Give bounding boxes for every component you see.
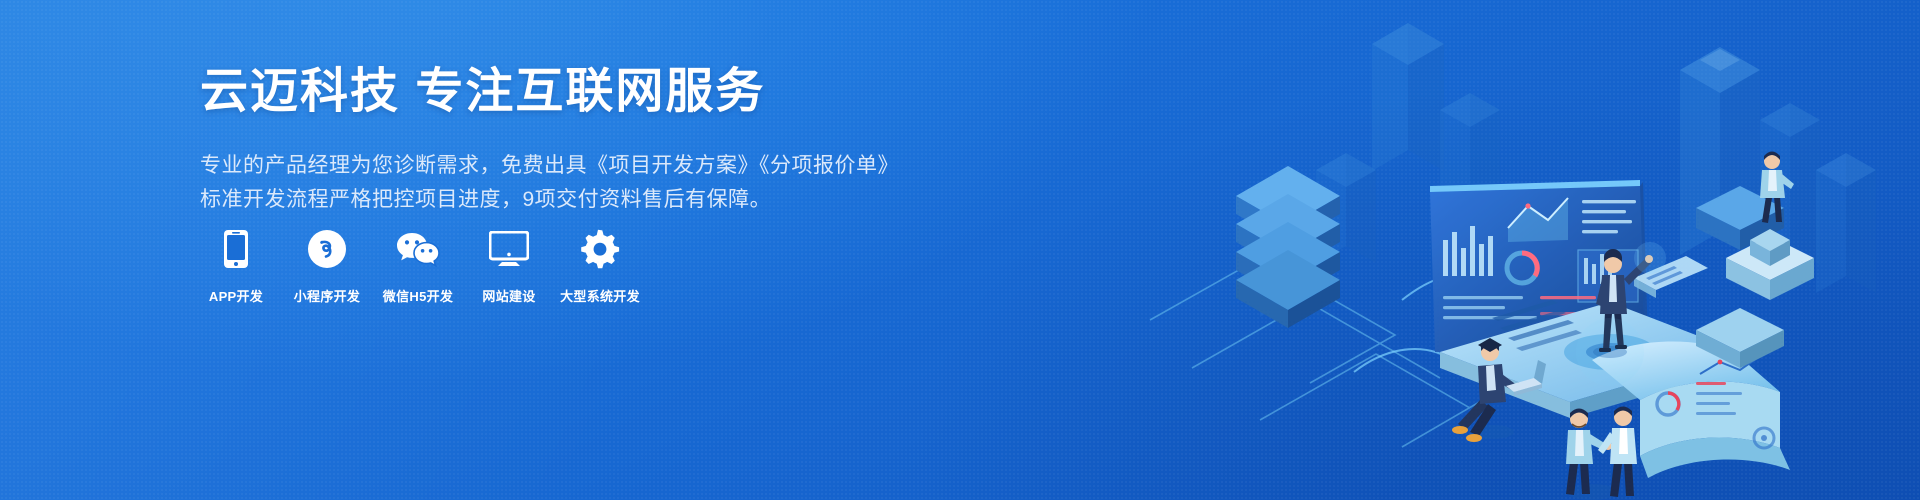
pad-text-lines: [1492, 300, 1582, 351]
service-item-mini-program[interactable]: 小程序开发: [291, 228, 363, 305]
data-flow-lines: [1150, 258, 1500, 447]
dashboard-screen: [1430, 180, 1648, 379]
service-label: APP开发: [209, 286, 263, 305]
service-list: APP开发 小程序开发: [200, 228, 636, 305]
subtitle-line-1: 专业的产品经理为您诊断需求，免费出具《项目开发方案》《分项报价单》: [200, 149, 900, 183]
service-label: 微信H5开发: [383, 286, 453, 305]
service-item-large-system[interactable]: 大型系统开发: [564, 228, 636, 305]
hero-copy: 云迈科技 专注互联网服务 专业的产品经理为您诊断需求，免费出具《项目开发方案》《…: [200, 64, 900, 217]
service-item-wechat-h5[interactable]: 微信H5开发: [382, 228, 454, 305]
service-item-website[interactable]: 网站建设: [473, 228, 545, 305]
subtitle-line-2: 标准开发流程严格把控项目进度，9项交付资料售后有保障。: [200, 183, 900, 217]
right-pedestals: [1696, 186, 1814, 368]
floating-mini-panel: [1634, 256, 1708, 298]
server-stack: [1236, 166, 1340, 328]
gear-icon: [580, 228, 620, 270]
bar-chart-panel: [1443, 226, 1493, 276]
mini-program-icon: [307, 228, 347, 270]
pedestal-person: [1760, 152, 1794, 224]
service-label: 网站建设: [482, 286, 535, 305]
hero-subtitle: 专业的产品经理为您诊断需求，免费出具《项目开发方案》《分项报价单》 标准开发流程…: [200, 149, 900, 217]
mobile-phone-icon: [223, 228, 249, 270]
city-buildings: [1260, 23, 1876, 317]
hero-banner: 云迈科技 专注互联网服务 专业的产品经理为您诊断需求，免费出具《项目开发方案》《…: [0, 0, 1920, 500]
isometric-illustration: [1140, 0, 1920, 500]
tablet-device: [1440, 300, 1740, 418]
line-chart-panel: [1508, 198, 1568, 242]
donut-chart: [1507, 253, 1537, 283]
two-people-group: [1566, 407, 1637, 500]
sitting-person-laptop: [1452, 338, 1546, 442]
standing-person: [1593, 249, 1653, 358]
service-label: 大型系统开发: [560, 286, 640, 305]
wechat-icon: [396, 228, 440, 270]
data-sheet: [1592, 342, 1790, 478]
page-title: 云迈科技 专注互联网服务: [200, 64, 900, 121]
service-label: 小程序开发: [294, 286, 361, 305]
monitor-icon: [489, 228, 529, 270]
screen-list-rows: [1582, 200, 1636, 233]
service-item-app[interactable]: APP开发: [200, 228, 272, 305]
